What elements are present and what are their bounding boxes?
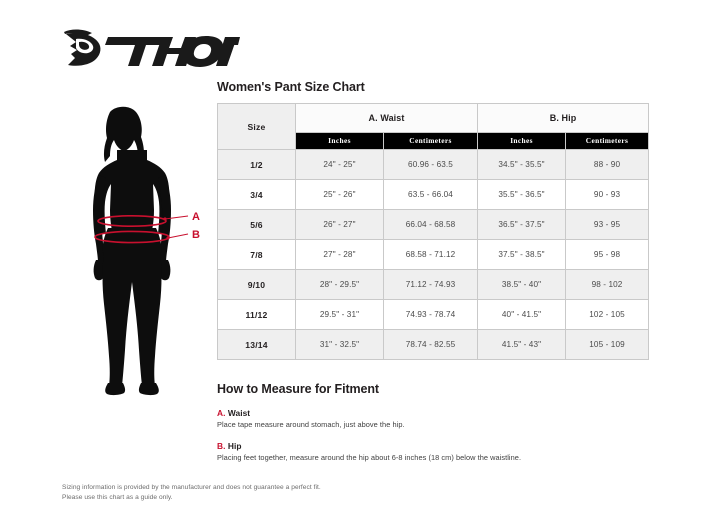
cell-size: 9/10 <box>218 270 296 300</box>
header-size: Size <box>218 104 296 150</box>
cell-hip-centimeters: 95 - 98 <box>566 240 649 270</box>
table-row: 9/10 28" - 29.5" 71.12 - 74.93 38.5" - 4… <box>218 270 649 300</box>
cell-hip-centimeters: 98 - 102 <box>566 270 649 300</box>
table-body: 1/2 24" - 25" 60.96 - 63.5 34.5" - 35.5"… <box>218 150 649 360</box>
how-to-measure-section: How to Measure for Fitment A. Waist Plac… <box>217 382 650 463</box>
cell-hip-inches: 38.5" - 40" <box>478 270 566 300</box>
cell-size: 13/14 <box>218 330 296 360</box>
size-chart-table: Size A. Waist B. Hip Inches Centimeters … <box>217 103 649 360</box>
cell-hip-inches: 41.5" - 43" <box>478 330 566 360</box>
measure-item-waist-letter: A. <box>217 408 225 418</box>
cell-hip-inches: 40" - 41.5" <box>478 300 566 330</box>
table-row: 1/2 24" - 25" 60.96 - 63.5 34.5" - 35.5"… <box>218 150 649 180</box>
cell-hip-inches: 37.5" - 38.5" <box>478 240 566 270</box>
measure-item-hip: B. Hip Placing feet together, measure ar… <box>217 441 650 463</box>
cell-waist-inches: 29.5" - 31" <box>296 300 384 330</box>
measure-item-hip-heading: B. Hip <box>217 441 650 451</box>
header-hip-inches: Inches <box>478 132 566 149</box>
cell-size: 1/2 <box>218 150 296 180</box>
cell-size: 7/8 <box>218 240 296 270</box>
thor-logo <box>62 28 242 72</box>
cell-waist-centimeters: 68.58 - 71.12 <box>384 240 478 270</box>
cell-hip-centimeters: 102 - 105 <box>566 300 649 330</box>
measure-item-hip-name: Hip <box>228 441 242 451</box>
cell-hip-centimeters: 90 - 93 <box>566 180 649 210</box>
measure-item-waist-heading: A. Waist <box>217 408 650 418</box>
cell-hip-centimeters: 88 - 90 <box>566 150 649 180</box>
header-group-hip: B. Hip <box>478 104 649 133</box>
cell-waist-centimeters: 74.93 - 78.74 <box>384 300 478 330</box>
cell-size: 5/6 <box>218 210 296 240</box>
cell-waist-centimeters: 71.12 - 74.93 <box>384 270 478 300</box>
header-group-waist: A. Waist <box>296 104 478 133</box>
page-title: Women's Pant Size Chart <box>217 80 650 95</box>
table-row: 5/6 26" - 27" 66.04 - 68.58 36.5" - 37.5… <box>218 210 649 240</box>
cell-hip-inches: 36.5" - 37.5" <box>478 210 566 240</box>
table-row: 11/12 29.5" - 31" 74.93 - 78.74 40" - 41… <box>218 300 649 330</box>
disclaimer: Sizing information is provided by the ma… <box>62 483 482 503</box>
cell-waist-centimeters: 66.04 - 68.58 <box>384 210 478 240</box>
cell-waist-centimeters: 78.74 - 82.55 <box>384 330 478 360</box>
disclaimer-line-2: Please use this chart as a guide only. <box>62 493 482 503</box>
cell-waist-inches: 27" - 28" <box>296 240 384 270</box>
waist-anchor-dot <box>163 217 166 220</box>
female-silhouette-icon <box>93 107 171 395</box>
table-row: 13/14 31" - 32.5" 78.74 - 82.55 41.5" - … <box>218 330 649 360</box>
thor-wordmark <box>105 36 240 67</box>
cell-hip-centimeters: 105 - 109 <box>566 330 649 360</box>
cell-waist-inches: 25" - 26" <box>296 180 384 210</box>
header-waist-inches: Inches <box>296 132 384 149</box>
cell-waist-inches: 31" - 32.5" <box>296 330 384 360</box>
table-row: 7/8 27" - 28" 68.58 - 71.12 37.5" - 38.5… <box>218 240 649 270</box>
cell-size: 3/4 <box>218 180 296 210</box>
disclaimer-line-1: Sizing information is provided by the ma… <box>62 483 482 493</box>
cell-waist-centimeters: 60.96 - 63.5 <box>384 150 478 180</box>
figure-label-b: B <box>192 229 200 241</box>
figure-label-a: A <box>192 211 200 223</box>
measure-item-waist: A. Waist Place tape measure around stoma… <box>217 408 650 430</box>
measure-item-waist-name: Waist <box>228 408 250 418</box>
cell-hip-inches: 35.5" - 36.5" <box>478 180 566 210</box>
table-header: Size A. Waist B. Hip Inches Centimeters … <box>218 104 649 150</box>
cell-size: 11/12 <box>218 300 296 330</box>
table-row: 3/4 25" - 26" 63.5 - 66.04 35.5" - 36.5"… <box>218 180 649 210</box>
cell-waist-inches: 26" - 27" <box>296 210 384 240</box>
measurement-figure: A B <box>62 100 212 400</box>
cell-waist-inches: 28" - 29.5" <box>296 270 384 300</box>
measure-item-hip-description: Placing feet together, measure around th… <box>217 453 650 463</box>
cell-hip-inches: 34.5" - 35.5" <box>478 150 566 180</box>
header-waist-centimeters: Centimeters <box>384 132 478 149</box>
thor-helmet-icon <box>64 29 100 65</box>
cell-waist-centimeters: 63.5 - 66.04 <box>384 180 478 210</box>
header-hip-centimeters: Centimeters <box>566 132 649 149</box>
cell-hip-centimeters: 93 - 95 <box>566 210 649 240</box>
hip-anchor-dot <box>166 236 169 239</box>
how-to-measure-title: How to Measure for Fitment <box>217 382 650 397</box>
cell-waist-inches: 24" - 25" <box>296 150 384 180</box>
measure-item-hip-letter: B. <box>217 441 225 451</box>
measure-item-waist-description: Place tape measure around stomach, just … <box>217 420 650 430</box>
